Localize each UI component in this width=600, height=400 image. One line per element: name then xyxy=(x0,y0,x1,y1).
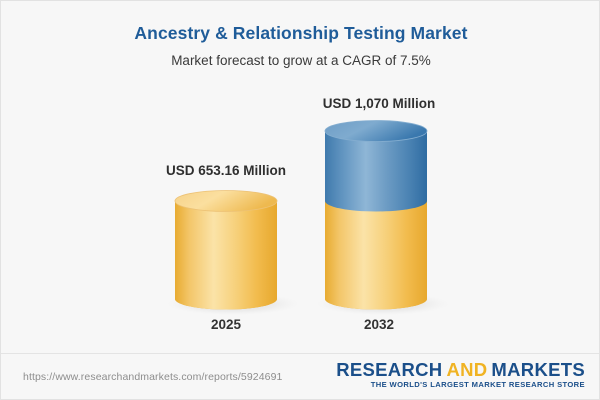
logo-text-research: RESEARCH xyxy=(336,359,442,380)
logo-tagline: THE WORLD'S LARGEST MARKET RESEARCH STOR… xyxy=(336,380,585,389)
bar-2032 xyxy=(325,121,427,310)
footer: https://www.researchandmarkets.com/repor… xyxy=(1,354,600,400)
logo-wordmark: RESEARCHANDMARKETS xyxy=(336,360,585,379)
logo-text-markets: MARKETS xyxy=(491,359,585,380)
chart-plot-area: USD 653.16 Million USD 1,070 Million xyxy=(1,1,600,353)
market-forecast-infographic: Ancestry & Relationship Testing Market M… xyxy=(0,0,600,400)
research-and-markets-logo[interactable]: RESEARCHANDMARKETS THE WORLD'S LARGEST M… xyxy=(336,360,585,390)
category-label-2032: 2032 xyxy=(264,317,494,332)
bar-2025 xyxy=(175,191,277,310)
source-url-link[interactable]: https://www.researchandmarkets.com/repor… xyxy=(23,371,282,383)
logo-text-and: AND xyxy=(446,359,487,380)
cylinder-bars-svg xyxy=(1,1,600,353)
